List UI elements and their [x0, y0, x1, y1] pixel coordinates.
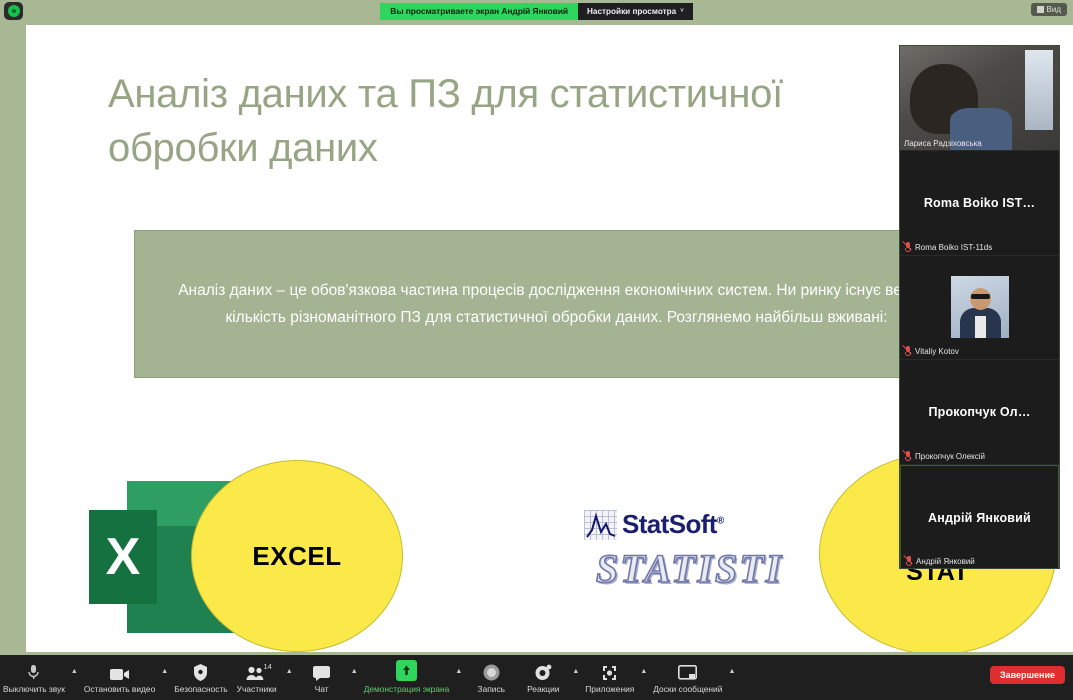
participant-display-name: Андрій Янковий — [922, 511, 1037, 525]
toolbar-caret-chat-bubble[interactable]: ▲ — [348, 655, 361, 700]
participant-footer-name: Лариса Радзіховська — [904, 139, 982, 148]
toolbar-label: Остановить видео — [84, 684, 155, 694]
shield-icon — [193, 662, 208, 681]
toolbar-button-participants[interactable]: 14Участники — [231, 655, 283, 700]
microphone-muted-icon — [904, 242, 912, 253]
participant-footer-name: Андрій Янковий — [916, 557, 975, 566]
grid-view-icon — [1037, 6, 1044, 13]
slide-content-box: Аналіз даних – це обов'язкова частина пр… — [134, 230, 979, 378]
toolbar-label: Запись — [478, 684, 505, 694]
microphone-muted-icon — [904, 451, 912, 462]
slide-title: Аналіз даних та ПЗ для статистичної обро… — [108, 67, 928, 175]
highlight-excel-label: EXCEL — [252, 541, 341, 572]
share-notice: Вы просматриваете экран Андрій Янковий — [380, 3, 578, 20]
toolbar-caret-reactions[interactable]: ▲ — [569, 655, 582, 700]
view-settings-button[interactable]: Настройки просмотра ˅ — [578, 3, 693, 20]
chevron-down-icon: ˅ — [680, 8, 684, 14]
participant-video-feed — [900, 46, 1059, 150]
toolbar-button-chat-bubble[interactable]: Чат — [296, 655, 348, 700]
toolbar-button-screen-share[interactable]: Демонстрация экрана — [361, 655, 453, 700]
toolbar-caret-participants[interactable]: ▲ — [283, 655, 296, 700]
screen-share-bar: Вы просматриваете экран Андрій Янковий Н… — [0, 0, 1073, 22]
statsoft-chart-icon — [584, 510, 617, 540]
reactions-icon — [535, 662, 552, 681]
view-settings-label: Настройки просмотра — [587, 7, 676, 16]
participant-name-badge: Прокопчук Олексій — [900, 451, 989, 462]
excel-logo-letter: X — [106, 531, 141, 583]
participant-tile[interactable]: Лариса Радзіховська — [900, 46, 1059, 151]
participant-display-name: Прокопчук Ол… — [922, 405, 1036, 419]
toolbar-button-shield[interactable]: Безопасность — [171, 655, 230, 700]
toolbar-label: Доски сообщений — [653, 684, 722, 694]
participant-footer-name: Vitaliy Kotov — [915, 347, 959, 356]
participant-tile[interactable]: Андрій ЯнковийАндрій Янковий — [900, 465, 1059, 569]
toolbar-button-whiteboard[interactable]: Доски сообщений — [650, 655, 725, 700]
participant-avatar — [951, 276, 1009, 338]
participant-tile[interactable]: Roma Boiko IST…Roma Boiko IST-11ds — [900, 151, 1059, 256]
excel-x-icon: X — [89, 510, 157, 604]
end-meeting-button[interactable]: Завершение — [990, 666, 1065, 684]
meeting-toolbar: Выключить звук▲Остановить видео▲Безопасн… — [0, 655, 1073, 700]
toolbar-label: Участники — [237, 684, 277, 694]
participant-footer-name: Roma Boiko IST-11ds — [915, 243, 992, 252]
toolbar-caret-video-camera[interactable]: ▲ — [158, 655, 171, 700]
toolbar-caret-apps[interactable]: ▲ — [637, 655, 650, 700]
toolbar-label: Выключить звук — [3, 684, 65, 694]
toolbar-button-reactions[interactable]: Реакции — [517, 655, 569, 700]
participants-count: 14 — [264, 662, 272, 671]
participant-footer-name: Прокопчук Олексій — [915, 452, 985, 461]
view-layout-button[interactable]: Вид — [1031, 3, 1067, 16]
statsoft-wordmark: StatSoft® — [622, 509, 724, 540]
microphone-icon — [26, 662, 41, 681]
participants-icon: 14 — [246, 662, 267, 681]
participant-name-badge: Лариса Радзіховська — [900, 139, 986, 148]
toolbar-label: Реакции — [527, 684, 559, 694]
toolbar-caret-screen-share[interactable]: ▲ — [452, 655, 465, 700]
toolbar-button-microphone[interactable]: Выключить звук — [0, 655, 68, 700]
apps-icon — [601, 662, 618, 681]
microphone-muted-icon — [905, 556, 913, 567]
whiteboard-icon — [678, 662, 697, 681]
chat-bubble-icon — [313, 662, 330, 681]
toolbar-label: Чат — [315, 684, 329, 694]
participant-video-strip[interactable]: Лариса РадзіховськаRoma Boiko IST…Roma B… — [899, 45, 1060, 569]
participant-tile[interactable]: Vitaliy Kotov — [900, 256, 1059, 361]
screen-share-active-icon — [4, 2, 23, 20]
toolbar-label: Безопасность — [174, 684, 227, 694]
highlight-ellipse-excel: EXCEL — [191, 460, 403, 652]
slide-body-text: Аналіз даних – це обов'язкова частина пр… — [161, 277, 952, 331]
toolbar-button-apps[interactable]: Приложения — [582, 655, 637, 700]
toolbar-label: Приложения — [585, 684, 634, 694]
participant-name-badge: Vitaliy Kotov — [900, 346, 963, 357]
view-button-label: Вид — [1047, 5, 1061, 14]
participant-name-badge: Андрій Янковий — [901, 556, 979, 567]
toolbar-button-video-camera[interactable]: Остановить видео — [81, 655, 158, 700]
record-icon — [483, 662, 500, 681]
participant-tile[interactable]: Прокопчук Ол…Прокопчук Олексій — [900, 360, 1059, 465]
toolbar-caret-whiteboard[interactable]: ▲ — [725, 655, 738, 700]
participant-name-badge: Roma Boiko IST-11ds — [900, 242, 996, 253]
participant-display-name: Roma Boiko IST… — [918, 196, 1041, 210]
microphone-muted-icon — [904, 346, 912, 357]
toolbar-caret-microphone[interactable]: ▲ — [68, 655, 81, 700]
toolbar-button-record[interactable]: Запись — [465, 655, 517, 700]
zoom-meeting-window: Вы просматриваете экран Андрій Янковий Н… — [0, 0, 1073, 700]
video-camera-icon — [110, 662, 130, 681]
screen-share-icon — [396, 662, 417, 681]
toolbar-label: Демонстрация экрана — [364, 684, 450, 694]
